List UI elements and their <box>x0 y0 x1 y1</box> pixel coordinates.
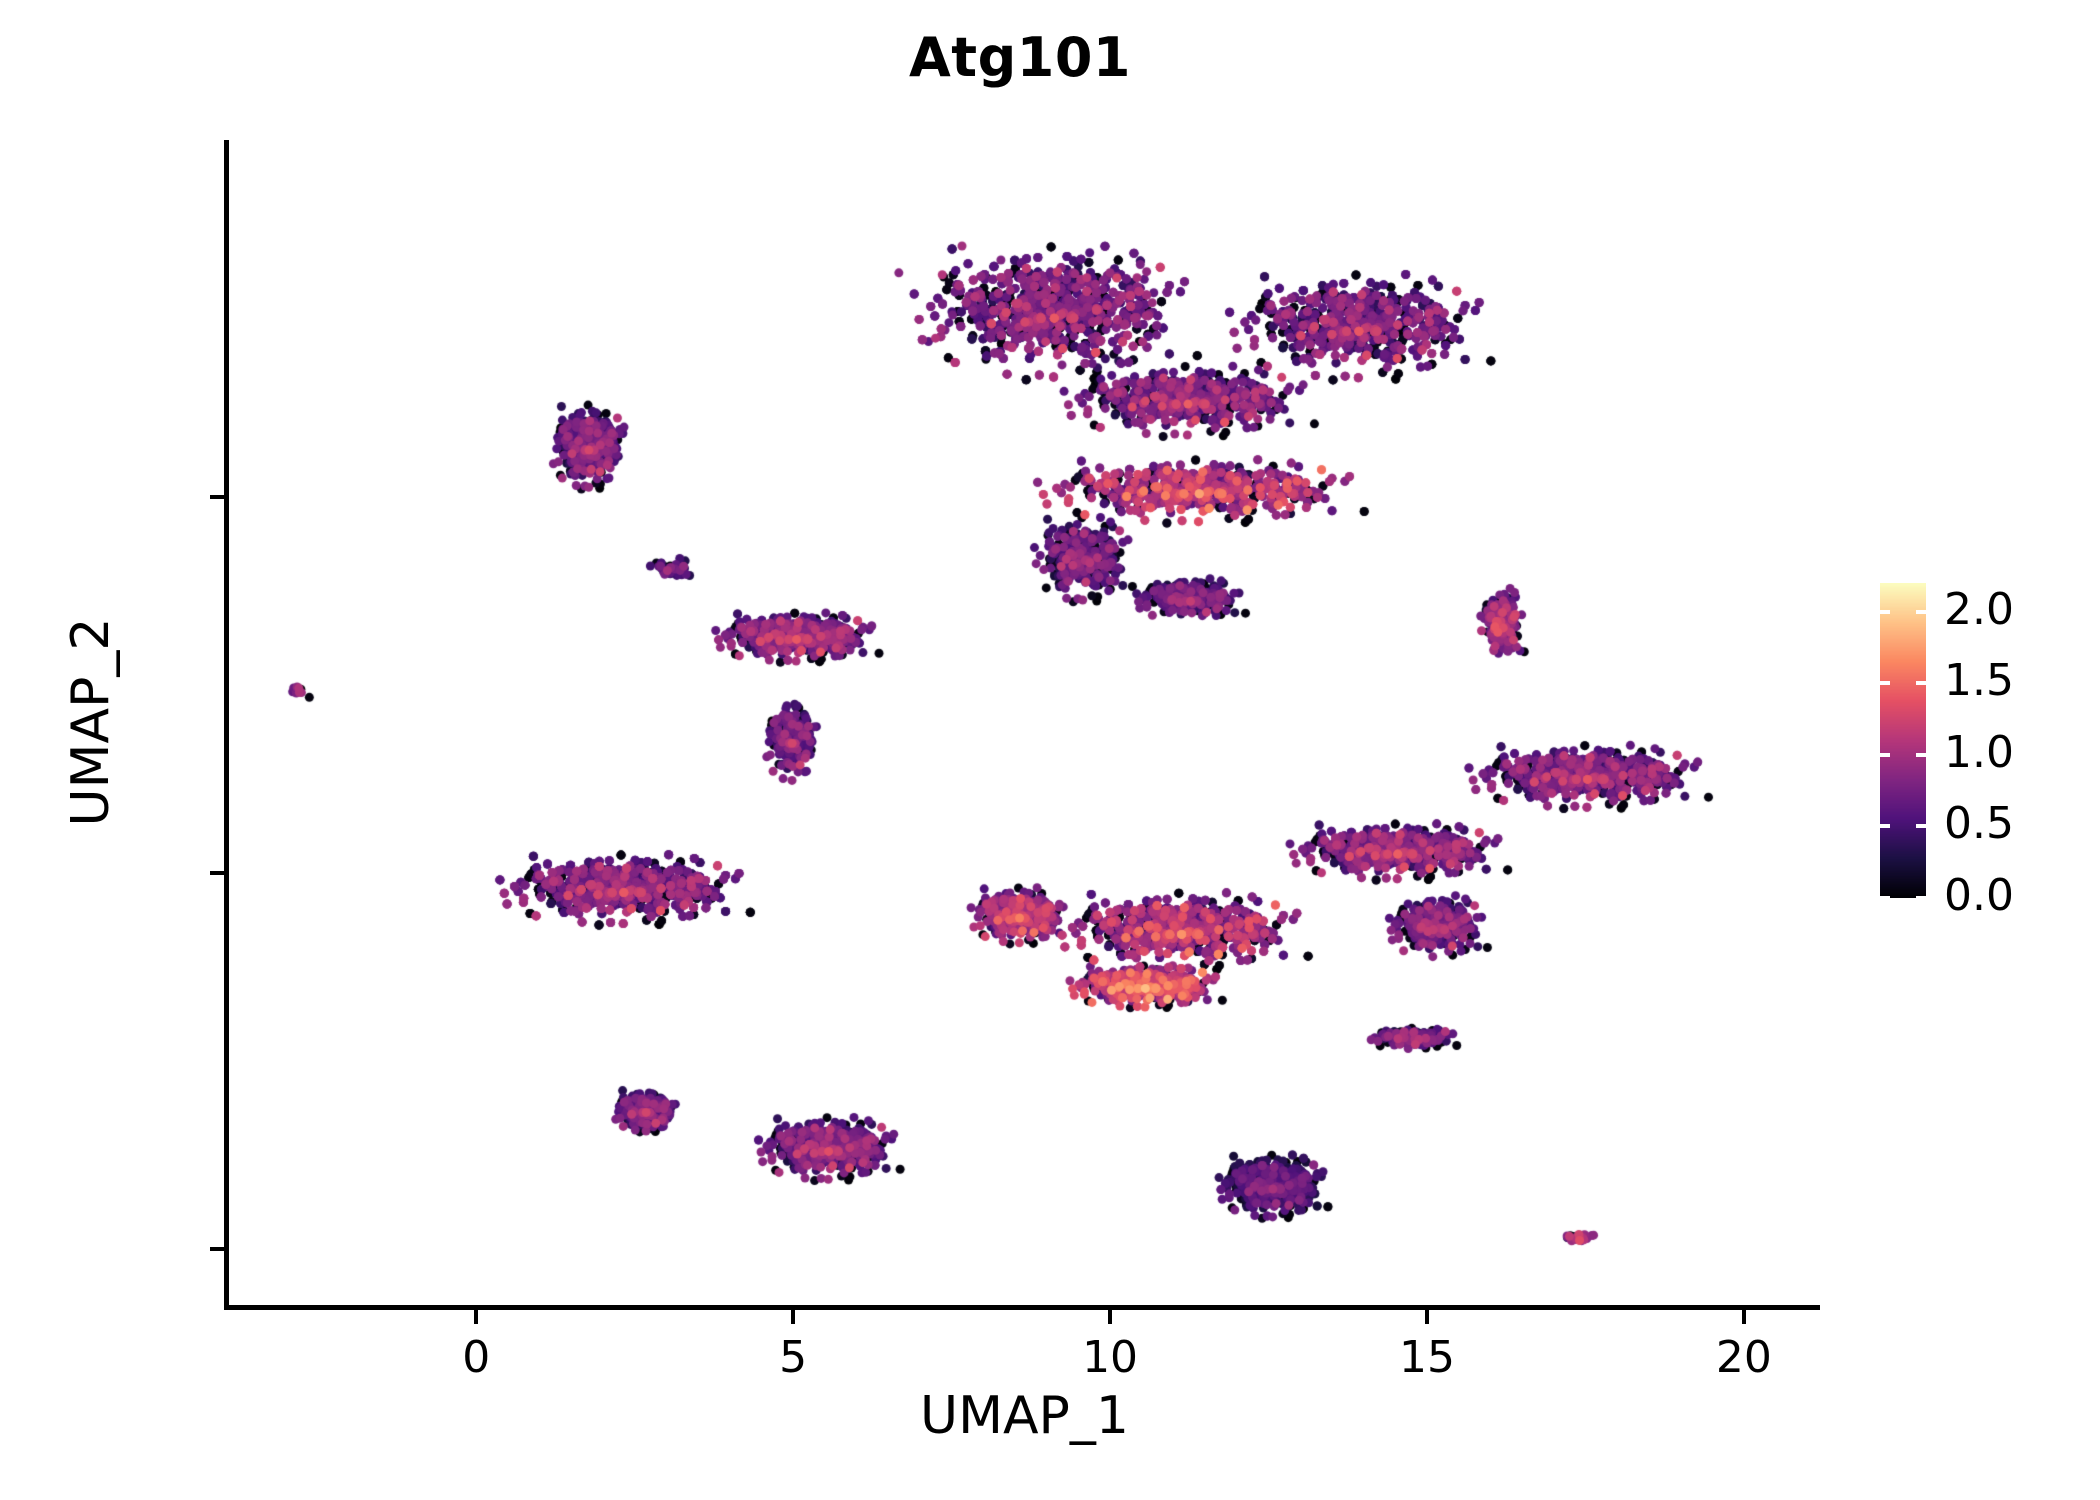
x-tick-label: 0 <box>396 1332 556 1383</box>
x-tick-label: 20 <box>1664 1332 1824 1383</box>
colorbar-tick-mark <box>1880 896 1890 900</box>
x-tick-label: 5 <box>713 1332 873 1383</box>
colorbar-tick-mark <box>1880 824 1890 828</box>
y-tick-mark <box>210 495 224 499</box>
plot-axes-area: 100-10 05101520 <box>229 140 1820 1305</box>
scatter-plot-canvas <box>229 140 1820 1305</box>
colorbar-tick-mark <box>1916 753 1926 757</box>
x-tick-mark <box>791 1310 795 1324</box>
colorbar-tick-mark <box>1916 610 1926 614</box>
colorbar-tick-label: 0.5 <box>1944 798 2014 849</box>
x-tick-label: 10 <box>1030 1332 1190 1383</box>
x-tick-mark <box>1108 1310 1112 1324</box>
y-axis-label: UMAP_2 <box>61 322 121 1122</box>
x-axis-spine <box>224 1305 1820 1310</box>
page-title: Atg101 <box>0 26 2040 89</box>
colorbar-tick-label: 1.5 <box>1944 655 2014 706</box>
colorbar-tick-mark <box>1880 681 1890 685</box>
colorbar-tick-mark <box>1880 610 1890 614</box>
colorbar-tick-mark <box>1916 824 1926 828</box>
x-tick-mark <box>1742 1310 1746 1324</box>
colorbar-gradient <box>1880 583 1926 898</box>
colorbar-tick-label: 0.0 <box>1944 870 2014 921</box>
x-tick-mark <box>474 1310 478 1324</box>
y-tick-mark <box>210 1247 224 1251</box>
x-tick-mark <box>1425 1310 1429 1324</box>
colorbar-tick-mark <box>1880 753 1890 757</box>
colorbar: 2.01.51.00.50.0 <box>1880 583 1926 898</box>
x-axis-label: UMAP_1 <box>229 1386 1820 1446</box>
colorbar-tick-mark <box>1916 681 1926 685</box>
x-tick-label: 15 <box>1347 1332 1507 1383</box>
y-tick-mark <box>210 871 224 875</box>
figure-root: Atg101 100-10 05101520 UMAP_1 UMAP_2 2.0… <box>0 0 2100 1500</box>
colorbar-tick-label: 2.0 <box>1944 584 2014 635</box>
colorbar-tick-mark <box>1916 896 1926 900</box>
colorbar-tick-label: 1.0 <box>1944 727 2014 778</box>
